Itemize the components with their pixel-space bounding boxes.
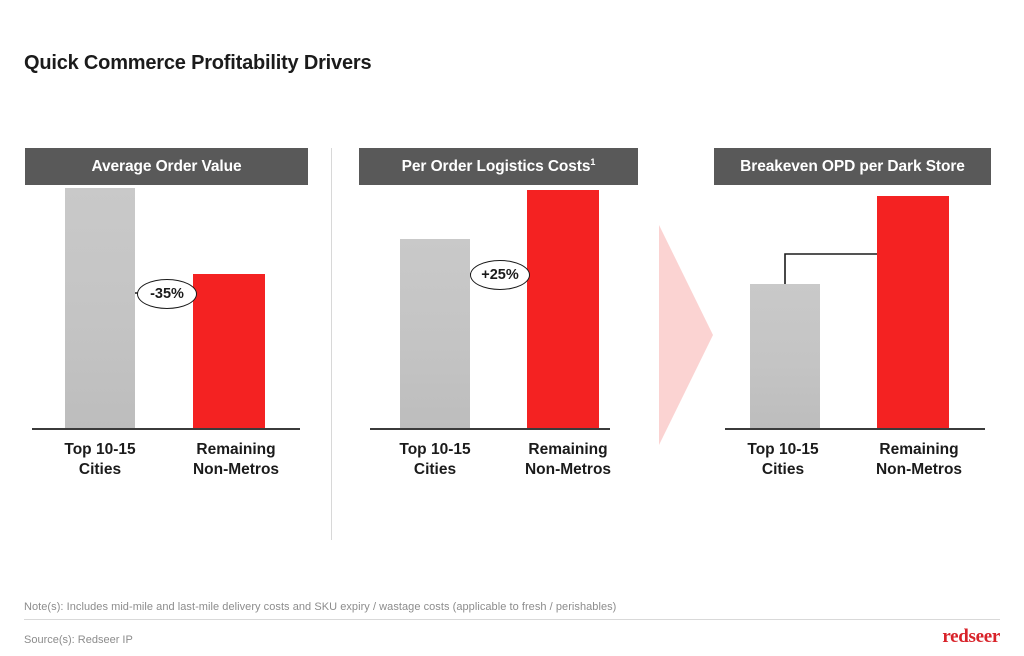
bar-grey-top-cities	[400, 239, 470, 428]
bar-grey-top-cities	[65, 188, 135, 428]
bar-red-remaining-non-metros	[877, 196, 949, 428]
panel-per-order-logistics-costs: Per Order Logistics Costs1 +25% Top 10-1…	[359, 130, 638, 550]
page-title: Quick Commerce Profitability Drivers	[24, 52, 371, 75]
panel-breakeven-opd-per-dark-store: Breakeven OPD per Dark Store X 1.5-2X To…	[714, 130, 991, 550]
redseer-logo: redseer	[942, 627, 1000, 646]
slide-root: Quick Commerce Profitability Drivers Ave…	[0, 0, 1024, 656]
category-label-top-cities: Top 10-15 Cities	[30, 440, 170, 480]
bar-red-remaining-non-metros	[527, 190, 599, 428]
panel-title-text: Breakeven OPD per Dark Store	[740, 158, 965, 175]
bar-red-remaining-non-metros	[193, 274, 265, 428]
footer-source: Source(s): Redseer IP	[24, 634, 133, 646]
category-label-remaining-non-metros: Remaining Non-Metros	[848, 440, 990, 480]
footer-notes: Note(s): Includes mid-mile and last-mile…	[24, 601, 1000, 619]
category-label-top-cities: Top 10-15 Cities	[365, 440, 505, 480]
category-label-remaining-non-metros: Remaining Non-Metros	[497, 440, 639, 480]
panel-header-breakeven-opd: Breakeven OPD per Dark Store	[714, 148, 991, 185]
footer: Note(s): Includes mid-mile and last-mile…	[24, 601, 1000, 656]
panel-average-order-value: Average Order Value -35% Top 10-15 Citie…	[25, 130, 308, 550]
panel-title-text: Average Order Value	[91, 158, 241, 175]
category-label-remaining-non-metros: Remaining Non-Metros	[165, 440, 307, 480]
panel-header-per-order-logistics-costs: Per Order Logistics Costs1	[359, 148, 638, 185]
plot-area-per-order-logistics-costs: +25% Top 10-15 Cities Remaining Non-Metr…	[359, 185, 638, 485]
axis-baseline	[32, 428, 300, 430]
category-label-top-cities: Top 10-15 Cities	[714, 440, 852, 480]
delta-badge-logistics: +25%	[470, 260, 530, 290]
plot-area-breakeven-opd: X 1.5-2X Top 10-15 Cities Remaining Non-…	[714, 185, 991, 485]
pink-chevron-arrow-icon	[655, 225, 715, 445]
axis-baseline	[725, 428, 985, 430]
panel-header-average-order-value: Average Order Value	[25, 148, 308, 185]
panel-title-footnote-marker: 1	[590, 157, 595, 167]
panel-divider	[331, 148, 332, 540]
bar-grey-top-cities	[750, 284, 820, 428]
axis-baseline	[370, 428, 610, 430]
plot-area-average-order-value: -35% Top 10-15 Cities Remaining Non-Metr…	[25, 185, 308, 485]
delta-badge-aov: -35%	[137, 279, 197, 309]
panel-title-text: Per Order Logistics Costs	[402, 158, 591, 175]
